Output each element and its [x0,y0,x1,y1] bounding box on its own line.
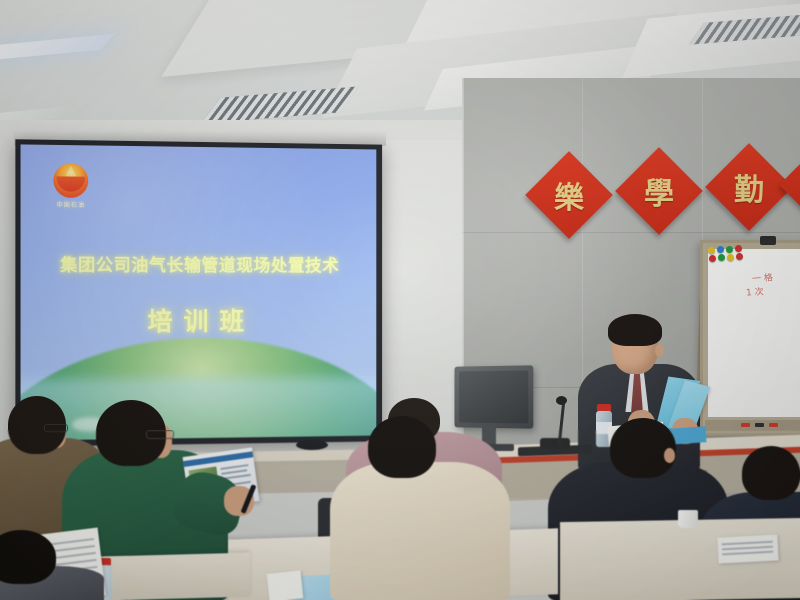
magnet [726,246,733,253]
projector-screen: 中国石油 集团公司油气长输管道现场处置技术 培训班 [15,139,382,446]
marker [741,423,750,427]
desk-papers [267,570,304,600]
plaque-glyph: 勤 [718,156,780,218]
marker [755,423,764,427]
light-panel [0,34,115,62]
petrochina-sun-icon [53,163,88,198]
marker [769,423,778,427]
paper-cup [678,510,698,528]
microphone-head [556,396,567,405]
plaque-glyph: 樂 [538,164,600,226]
monitor-back-panel [459,370,528,423]
petrochina-logo: 中国石油 [45,163,96,209]
plaque-qin: 勤 [705,143,793,231]
whiteboard-marker-tray [705,420,800,431]
slide-title: 集团公司油气长输管道现场处置技术 [21,250,377,276]
whiteboard: 一 格 1 次 [700,240,800,436]
attendee-beige-jacket [330,462,510,600]
plaque-glyph: 奮 [792,154,800,216]
petrochina-logo-text: 中国石油 [45,200,96,210]
lcd-monitor[interactable] [454,365,533,428]
presenter-hair [608,314,662,346]
whiteboard-clip [760,236,776,245]
magnet [735,245,742,252]
plaque-xue: 學 [615,147,703,235]
microphone-base [540,438,570,449]
desk-papers [717,534,778,563]
presenter-ear [655,344,664,357]
whiteboard-note-line-2: 1 次 [746,284,764,298]
attendee-head [742,446,800,500]
eyeglasses [146,430,174,439]
magnet [709,255,716,262]
slide-subtitle: 培训班 [21,302,377,339]
projector-screen-surface: 中国石油 集团公司油气长输管道现场处置技术 培训班 [21,144,377,440]
magnet [736,253,743,260]
plaque-le: 樂 [525,151,613,239]
globe-atmosphere [21,376,377,440]
ceiling-vent-grille [201,86,359,123]
conference-room-photo: 樂 學 勤 奮 一 格 1 次 [0,0,800,600]
magnet [708,247,715,254]
magnet [718,254,725,261]
attendee-head [368,416,436,478]
magnet [717,246,724,253]
eyeglasses [44,424,68,432]
desk-object [296,440,328,450]
whiteboard-note-line-1: 一 格 [752,270,774,284]
attendee-ear [664,448,675,463]
magnet [727,254,734,261]
whiteboard-surface: 一 格 1 次 [708,249,800,417]
plaque-glyph: 學 [628,160,690,222]
